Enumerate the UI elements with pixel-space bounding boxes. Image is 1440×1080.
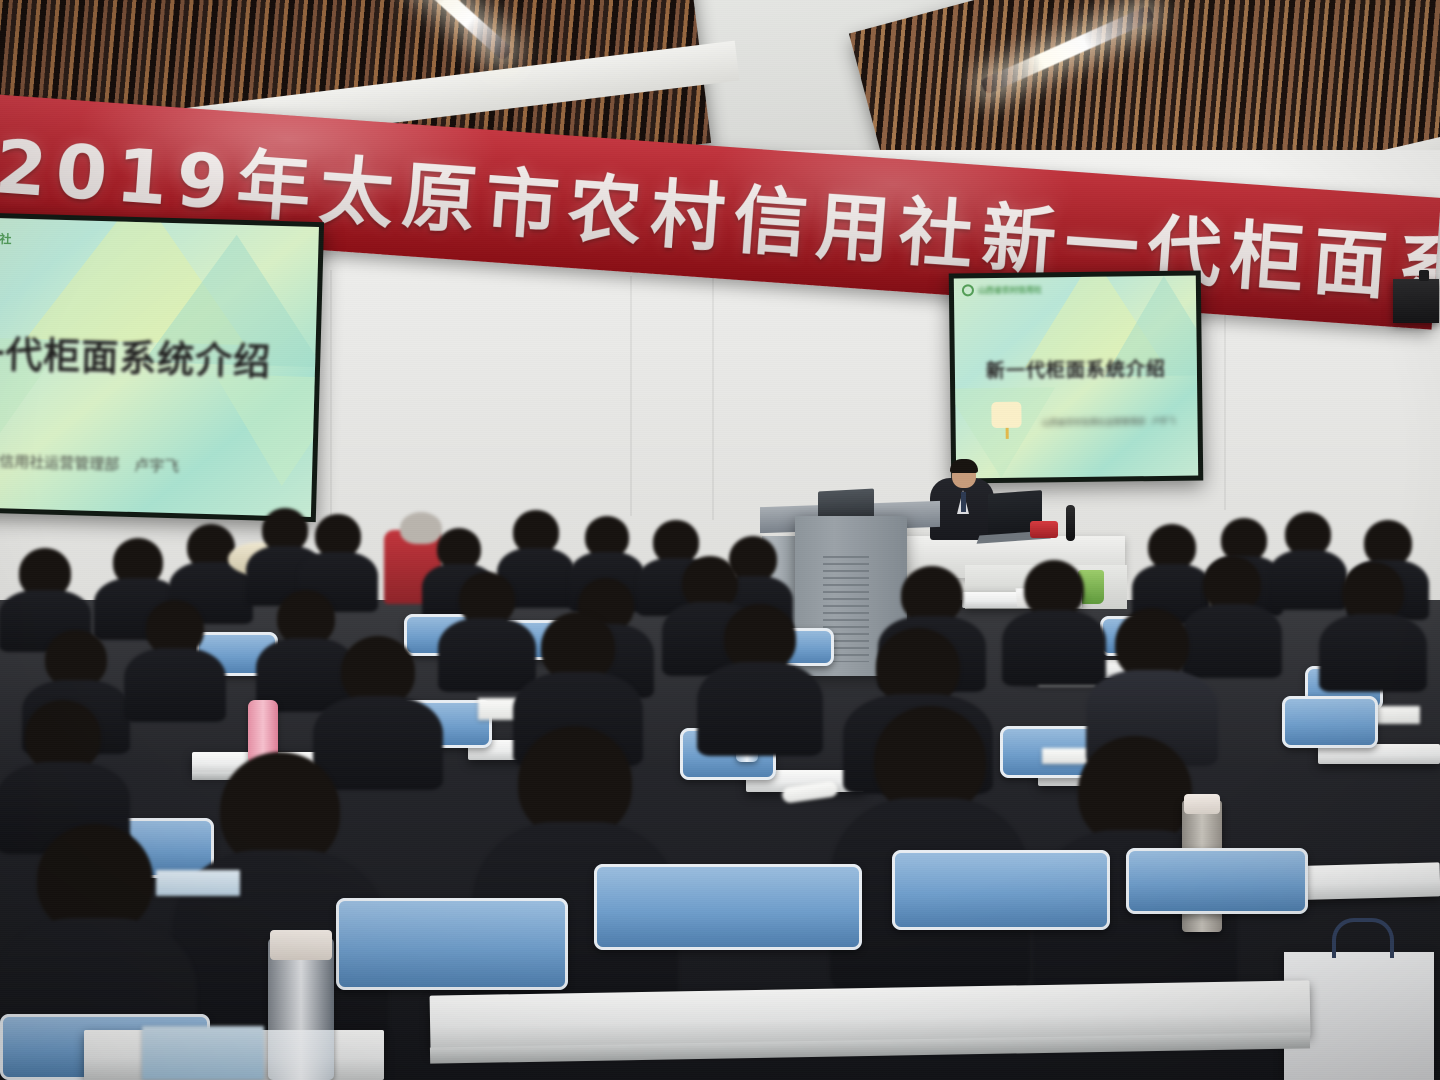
attendee [700, 604, 820, 754]
slide-subtitle-name-left: 卢宇飞 [134, 454, 180, 476]
wall-speaker [1393, 279, 1439, 323]
chart-icon-stand-right [1006, 428, 1009, 439]
tote-bag-handle [1332, 918, 1394, 958]
presenter-hair [950, 459, 978, 473]
attendee-body [124, 648, 226, 722]
slide-chart-icon-right [991, 402, 1021, 428]
chair [336, 898, 568, 990]
slide-logo-text: 山西省农村信用社 [0, 228, 12, 248]
paper [478, 698, 518, 720]
wall-seam-mid [630, 276, 632, 516]
water-bottle-cap [270, 930, 332, 960]
notebook [156, 870, 240, 896]
right-slide: 山西省农村信用社 新一代柜面系统介绍 山西省农村信用社运营管理部 卢宇飞 [954, 276, 1198, 479]
slide-subtitle-org-right: 山西省农村信用社运营管理部 [1041, 416, 1145, 428]
attendee-body [697, 662, 823, 756]
chair [892, 850, 1110, 930]
wall-seam-mid2 [712, 270, 714, 520]
left-slide: 山西省农村信用社 新一代柜面系统介绍 山西省农村信用社运营管理部 卢宇飞 [0, 215, 319, 517]
slide-logo-left: 山西省农村信用社 [0, 227, 12, 247]
attendee-body [1319, 614, 1427, 692]
presenter-tie [961, 492, 966, 512]
slide-logo-right: 山西省农村信用社 [962, 283, 1042, 296]
attendee [836, 706, 1024, 986]
slide-subtitle-org-left: 山西省农村信用社运营管理部 [0, 448, 120, 474]
chair [1282, 696, 1378, 748]
slide-logo-text-right: 山西省农村信用社 [978, 284, 1042, 296]
attendee [1004, 560, 1104, 682]
slide-title-left: 新一代柜面系统介绍 [0, 321, 316, 387]
slide-title-right: 新一代柜面系统介绍 [955, 354, 1197, 384]
red-folder [1030, 521, 1058, 538]
printed-leaflet [142, 1026, 264, 1080]
thermos-cap [1184, 794, 1220, 814]
attendee [126, 600, 224, 720]
slide-polygon-4 [212, 374, 319, 488]
chair [1126, 848, 1308, 914]
bank-logo-icon-right [962, 284, 974, 296]
attendee [1322, 562, 1424, 686]
wall-seam-right [1224, 290, 1226, 510]
slide-subtitle-name-right: 卢宇飞 [1151, 416, 1175, 427]
wall-seam-left [330, 270, 332, 530]
microphone [1066, 505, 1075, 541]
right-projection-screen: 山西省农村信用社 新一代柜面系统介绍 山西省农村信用社运营管理部 卢宇飞 [949, 270, 1204, 483]
attendee-head [1342, 562, 1404, 622]
left-projection-screen: 山西省农村信用社 新一代柜面系统介绍 山西省农村信用社运营管理部 卢宇飞 [0, 210, 324, 522]
photo-scene: 2019年太原市农村信用社新一代柜面系统培训 山西省农村信用社 新一代柜面系统介… [0, 0, 1440, 1080]
chair [594, 864, 862, 950]
